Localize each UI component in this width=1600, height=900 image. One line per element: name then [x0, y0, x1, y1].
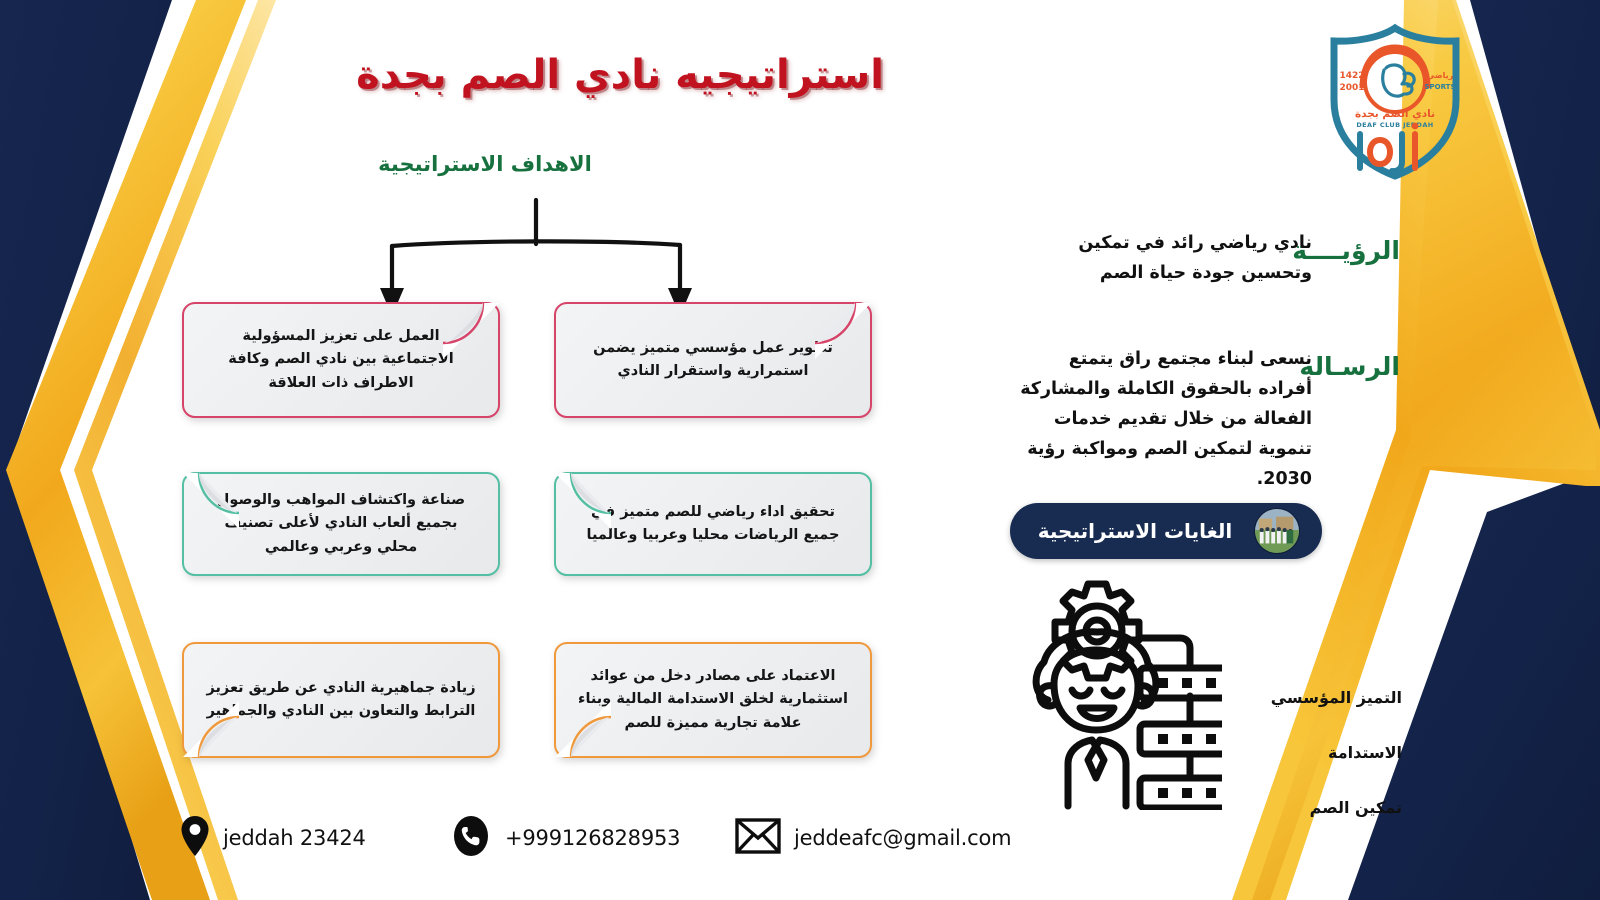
page-curl-icon [183, 473, 239, 529]
page-curl-icon [443, 303, 499, 359]
goal-card[interactable]: زيادة جماهيرية النادي عن طريق تعزيز التر… [182, 642, 500, 758]
goal-card-text: صناعة واكتشاف المواهب والوصول بجميع ألعا… [206, 489, 476, 559]
page-curl-icon [555, 701, 611, 757]
strategic-aim-item: التميز المؤسسي [1222, 670, 1402, 725]
goal-card[interactable]: صناعة واكتشاف المواهب والوصول بجميع ألعا… [182, 472, 500, 576]
logo-sport-ar: رياضي [1427, 71, 1454, 80]
page-curl-icon [183, 701, 239, 757]
strategic-aim-item: الاستدامة [1222, 725, 1402, 780]
infographic-page: استراتيجيه نادي الصم بجدة الاهداف الاستر… [0, 0, 1600, 900]
page-title: استراتيجيه نادي الصم بجدة [120, 52, 1120, 98]
goal-card-text: تطوير عمل مؤسسي متميز يضمن استمرارية واس… [578, 337, 848, 384]
logo-sport-en: SPORTS [1424, 83, 1455, 91]
email-value: jeddeafc@gmail.com [794, 826, 1011, 850]
logo-name-ar: نادي الصم بجدة [1355, 108, 1435, 120]
vision-text: نادي رياضي رائد في تمكين وتحسين جودة حيا… [1012, 228, 1312, 288]
envelope-icon [735, 818, 781, 858]
organizational-gear-person-icon [992, 578, 1222, 810]
page-curl-icon [555, 473, 611, 529]
goal-card[interactable]: الاعتماد على مصادر دخل من عوائد استثماري… [554, 642, 872, 758]
goal-card[interactable]: العمل على تعزيز المسؤولية الاجتماعية بين… [182, 302, 500, 418]
mission-text: نسعى لبناء مجتمع راق يتمتع أفراده بالحقو… [1012, 344, 1312, 494]
goal-card-text: تحقيق اداء رياضي للصم متميز في جميع الري… [578, 501, 848, 548]
goal-column-right: تطوير عمل مؤسسي متميز يضمن استمرارية واس… [554, 302, 872, 767]
page-curl-icon [815, 303, 871, 359]
goal-card[interactable]: تحقيق اداء رياضي للصم متميز في جميع الري… [554, 472, 872, 576]
strategic-aims-badge[interactable]: الغايات الاستراتيجية [1010, 503, 1322, 559]
goal-card[interactable]: تطوير عمل مؤسسي متميز يضمن استمرارية واس… [554, 302, 872, 418]
deaf-club-jeddah-logo: 1422 2001 رياضي SPORTS نادي الصم بجدة DE… [1320, 22, 1470, 182]
strategic-goals-heading: الاهداف الاستراتيجية [285, 152, 685, 176]
strategic-aims-list: التميز المؤسسي الاستدامة تمكين الصم [1222, 592, 1402, 835]
goal-card-text: زيادة جماهيرية النادي عن طريق تعزيز التر… [206, 677, 476, 724]
logo-year-greg: 2001 [1339, 83, 1364, 93]
phone-icon [450, 815, 492, 861]
footer-contacts: jeddah 23424 +999126828953 [180, 812, 1140, 872]
contact-email[interactable]: jeddeafc@gmail.com [735, 812, 1011, 864]
contact-phone[interactable]: +999126828953 [450, 812, 680, 864]
phone-value: +999126828953 [505, 826, 680, 850]
location-pin-icon [180, 815, 210, 861]
location-value: jeddah 23424 [223, 826, 366, 850]
content-sheet: استراتيجيه نادي الصم بجدة الاهداف الاستر… [120, 0, 1430, 900]
goal-cards-grid: تطوير عمل مؤسسي متميز يضمن استمرارية واس… [182, 302, 872, 767]
logo-name-en: DEAF CLUB JEDDAH [1356, 121, 1433, 129]
logo-year-hijri: 1422 [1339, 71, 1364, 81]
mission-label: الرسـالة [1299, 352, 1400, 381]
strategic-aims-label: الغايات الاستراتيجية [1016, 519, 1254, 543]
strategic-aim-item: تمكين الصم [1222, 780, 1402, 835]
team-photo [1254, 508, 1300, 554]
goal-card-text: الاعتماد على مصادر دخل من عوائد استثماري… [578, 665, 848, 735]
goal-column-left: العمل على تعزيز المسؤولية الاجتماعية بين… [182, 302, 500, 767]
contact-location[interactable]: jeddah 23424 [180, 812, 366, 864]
goal-card-text: العمل على تعزيز المسؤولية الاجتماعية بين… [206, 325, 476, 395]
